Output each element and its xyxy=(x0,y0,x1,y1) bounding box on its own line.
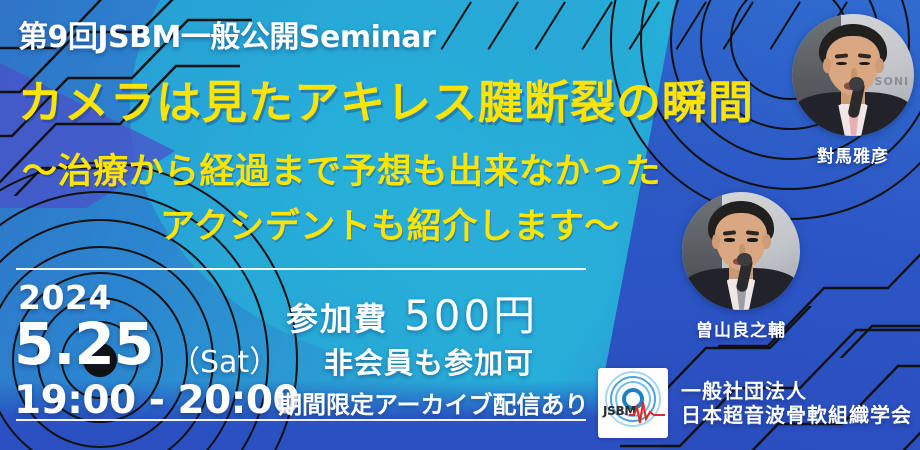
seminar-poster: 第9回JSBM一般公開Seminar カメラは見たアキレス腱断裂の瞬間 〜治療か… xyxy=(0,0,920,450)
seminar-eyebrow: 第9回JSBM一般公開Seminar xyxy=(18,12,435,56)
photo-backdrop-logo: SONI xyxy=(875,75,910,88)
organization-line-1: 一般社団法人 xyxy=(681,379,912,403)
fee-label: 参加費 xyxy=(286,294,388,340)
note-nonmember: 非会員も参加可 xyxy=(324,340,534,382)
subtitle-line-1: 〜治療から経過まで予想も出来なかった xyxy=(22,143,661,194)
fee-row: 参加費 500円 xyxy=(286,282,538,343)
organization-name: 一般社団法人 日本超音波骨軟組織学会 xyxy=(681,379,912,428)
jsbm-logo-icon: JSBM xyxy=(598,368,668,438)
page-title: カメラは見たアキレス腱断裂の瞬間 xyxy=(18,66,754,131)
organization-block: JSBM 一般社団法人 日本超音波骨軟組織学会 xyxy=(598,368,912,438)
note-archive: 期間限定アーカイブ配信あり xyxy=(278,385,589,420)
ecg-waveform-icon xyxy=(629,399,665,427)
divider-top xyxy=(16,268,586,270)
speaker-card-1: SONI 對馬雅彦 xyxy=(792,14,914,136)
speaker-name-1: 對馬雅彦 xyxy=(792,142,914,167)
speaker-photo-2 xyxy=(682,192,800,310)
avatar: SONI xyxy=(792,14,914,136)
subtitle-line-2: アクシデントも紹介します〜 xyxy=(160,198,620,249)
organization-line-2: 日本超音波骨軟組織学会 xyxy=(681,403,912,427)
event-time: 19:00 - 20:00 xyxy=(14,378,299,423)
event-day-of-week: （Sat） xyxy=(170,337,279,381)
event-date: 5.25 xyxy=(14,315,153,373)
speaker-photo-1: SONI xyxy=(792,14,914,136)
speaker-card-2: 曽山良之輔 xyxy=(682,192,800,310)
speaker-name-2: 曽山良之輔 xyxy=(682,316,800,341)
avatar xyxy=(682,192,800,310)
fee-amount: 500円 xyxy=(404,282,538,343)
